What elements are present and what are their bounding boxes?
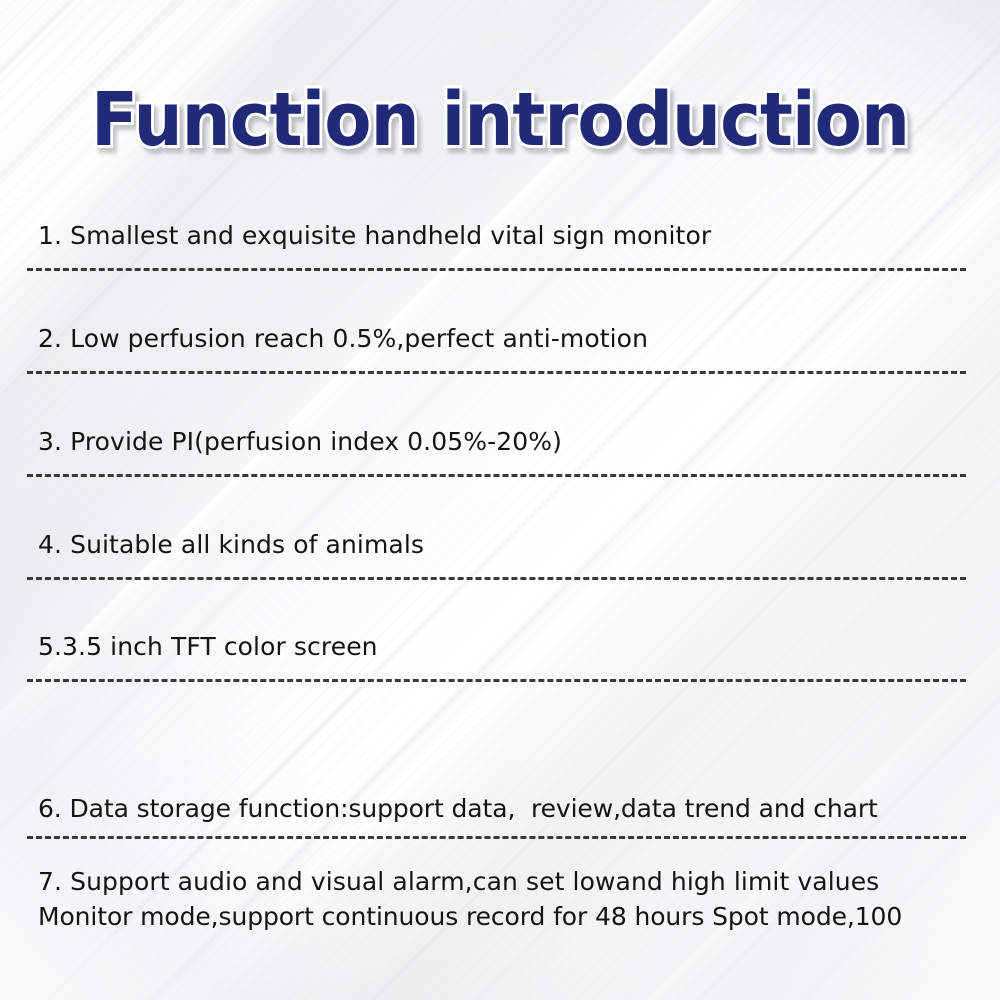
feature-block-5: 5.3.5 inch TFT color screen — [0, 629, 1000, 665]
page-title: Function introduction — [35, 78, 965, 162]
feature-divider-2 — [27, 371, 966, 374]
feature-item-7: 7. Support audio and visual alarm,can se… — [0, 864, 1000, 900]
feature-item-2: 2. Low perfusion reach 0.5%,perfect anti… — [0, 321, 1000, 357]
feature-block-7: 7. Support audio and visual alarm,can se… — [0, 864, 1000, 900]
feature-divider-5 — [27, 679, 966, 682]
feature-item-6: 6. Data storage function:support data, r… — [0, 719, 1000, 1000]
feature-item-1: 1. Smallest and exquisite handheld vital… — [0, 218, 1000, 254]
feature-block-3: 3. Provide PI(perfusion index 0.05%-20%) — [0, 424, 1000, 460]
feature-item-5: 5.3.5 inch TFT color screen — [0, 629, 1000, 665]
feature-block-1: 1. Smallest and exquisite handheld vital… — [0, 218, 1000, 254]
feature-item-6-line-1: 6. Data storage function:support data, r… — [38, 791, 1000, 827]
feature-item-6-line-2: Monitor mode,support continuous record f… — [38, 899, 1000, 935]
slide-content: Function introduction 1. Smallest and ex… — [0, 0, 1000, 1000]
feature-block-2: 2. Low perfusion reach 0.5%,perfect anti… — [0, 321, 1000, 357]
feature-divider-1 — [27, 268, 966, 271]
feature-divider-4 — [27, 577, 966, 580]
feature-item-4: 4. Suitable all kinds of animals — [0, 527, 1000, 563]
feature-divider-6 — [27, 836, 966, 839]
feature-divider-3 — [27, 474, 966, 477]
feature-block-6: 6. Data storage function:support data, r… — [0, 719, 1000, 1000]
slide-root: Function introduction 1. Smallest and ex… — [0, 0, 1000, 1000]
feature-item-3: 3. Provide PI(perfusion index 0.05%-20%) — [0, 424, 1000, 460]
feature-block-4: 4. Suitable all kinds of animals — [0, 527, 1000, 563]
